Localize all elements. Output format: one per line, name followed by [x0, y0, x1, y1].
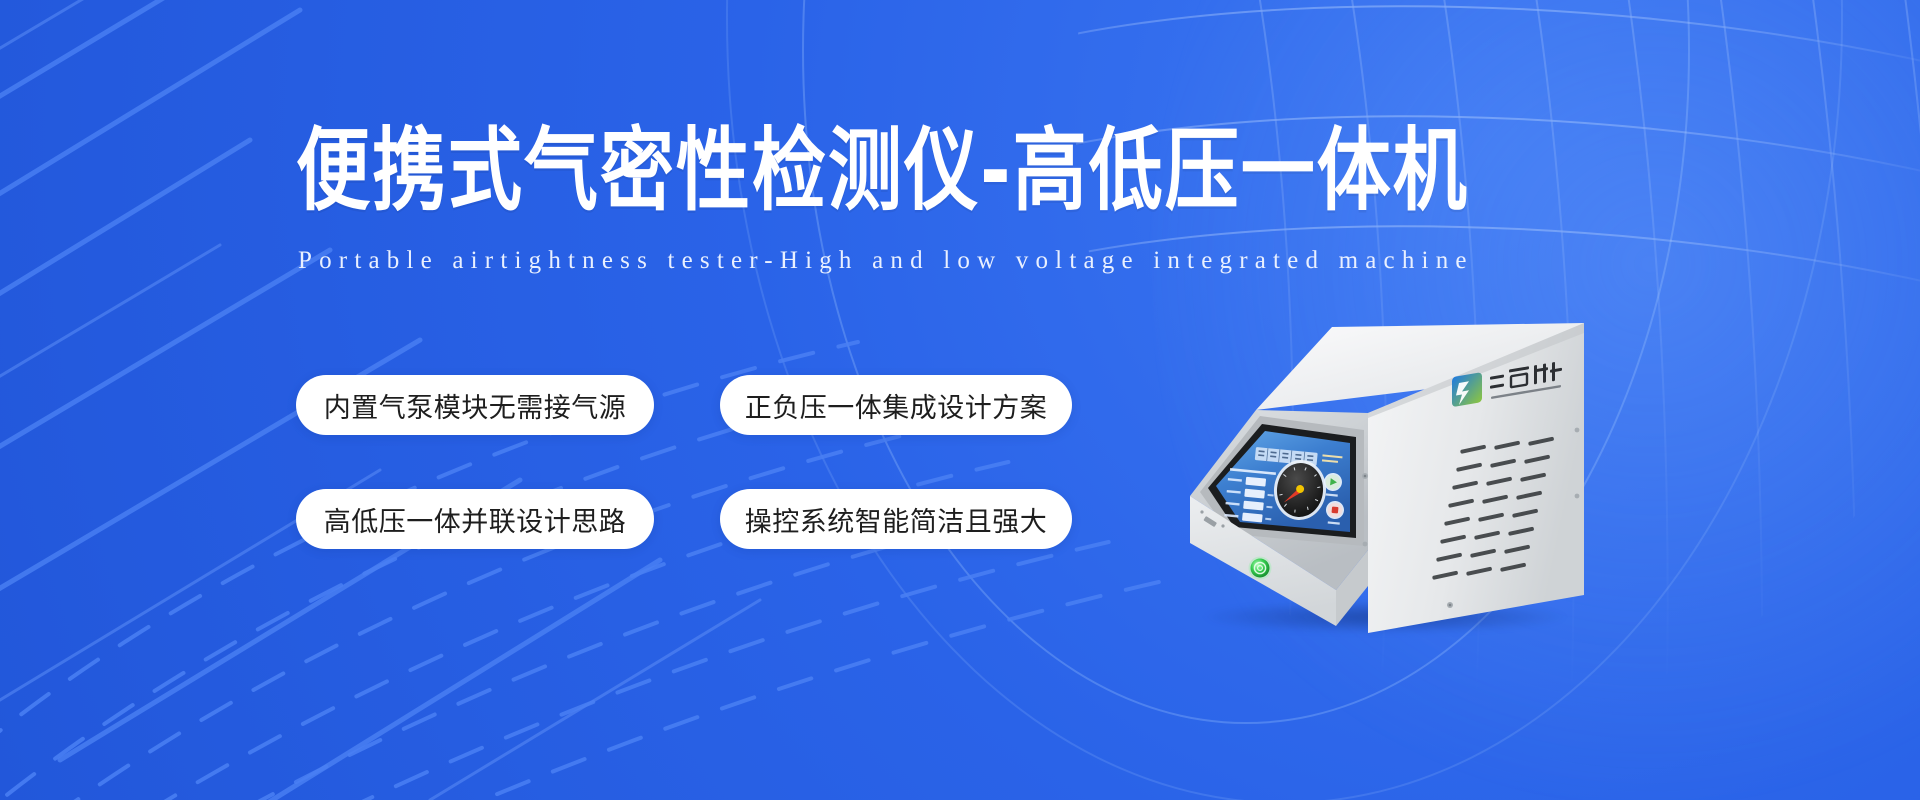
feature-pill-3[interactable]: 高低压一体并联设计思路 [296, 489, 654, 549]
page-title: 便携式气密性检测仪-高低压一体机 [296, 126, 1469, 216]
feature-pill-4[interactable]: 操控系统智能简洁且强大 [720, 489, 1072, 549]
promo-banner: 便携式气密性检测仪-高低压一体机 Portable airtightness t… [0, 0, 1920, 800]
feature-pill-1[interactable]: 内置气泵模块无需接气源 [296, 375, 654, 435]
feature-list: 内置气泵模块无需接气源 正负压一体集成设计方案 高低压一体并联设计思路 操控系统… [296, 375, 1116, 603]
feature-row-bottom: 高低压一体并联设计思路 操控系统智能简洁且强大 [296, 489, 1116, 549]
page-subtitle: Portable airtightness tester-High and lo… [298, 248, 1474, 273]
device-body [1160, 300, 1620, 660]
product-image [1160, 300, 1620, 660]
feature-pill-label: 高低压一体并联设计思路 [324, 500, 627, 539]
feature-pill-label: 内置气泵模块无需接气源 [324, 386, 627, 425]
feature-row-top: 内置气泵模块无需接气源 正负压一体集成设计方案 [296, 375, 1116, 435]
feature-pill-label: 正负压一体集成设计方案 [745, 386, 1048, 425]
feature-pill-label: 操控系统智能简洁且强大 [745, 500, 1048, 539]
feature-pill-2[interactable]: 正负压一体集成设计方案 [720, 375, 1072, 435]
power-button[interactable] [1249, 557, 1272, 580]
